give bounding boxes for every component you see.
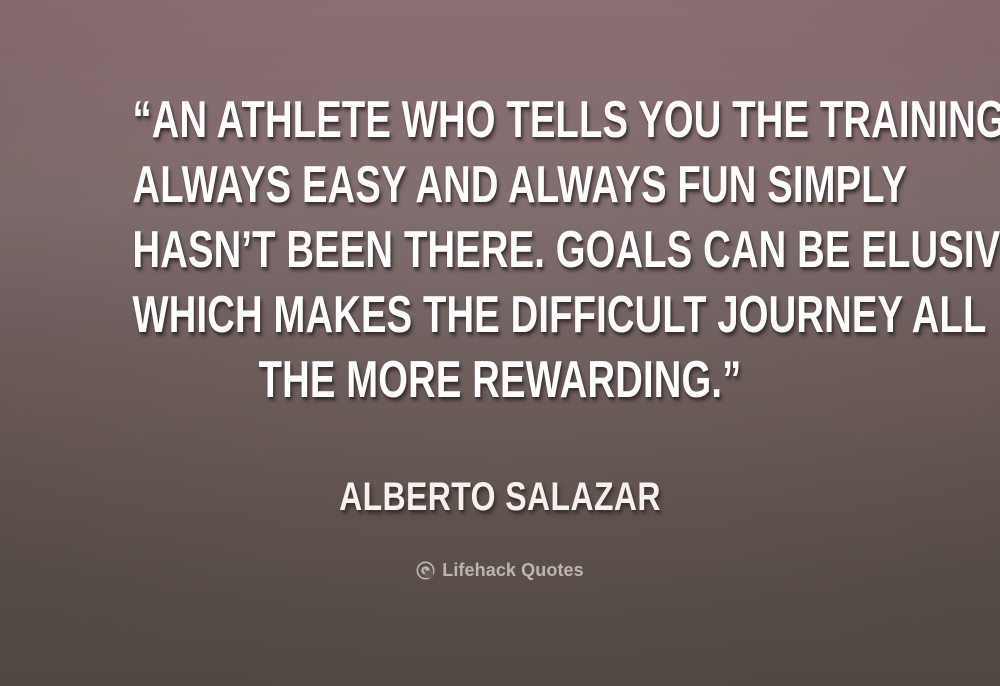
quote-line-2: ALWAYS EASY AND ALWAYS FUN SIMPLY: [133, 153, 868, 218]
quote-line-1: “AN ATHLETE WHO TELLS YOU THE TRAINING I…: [133, 88, 868, 153]
quote-line-5: THE MORE REWARDING.”: [133, 348, 868, 413]
quote-line-3: HASN’T BEEN THERE. GOALS CAN BE ELUSIVE: [133, 218, 868, 283]
quote-text: “AN ATHLETE WHO TELLS YOU THE TRAINING I…: [0, 88, 1000, 413]
quote-line-4: WHICH MAKES THE DIFFICULT JOURNEY ALL: [133, 283, 868, 348]
watermark-label: Lifehack Quotes: [442, 561, 584, 580]
quote-author: ALBERTO SALAZAR: [100, 474, 900, 520]
quote-image: “AN ATHLETE WHO TELLS YOU THE TRAINING I…: [0, 0, 1000, 686]
lifehack-logo-icon: [416, 561, 435, 580]
watermark: Lifehack Quotes: [0, 561, 1000, 580]
